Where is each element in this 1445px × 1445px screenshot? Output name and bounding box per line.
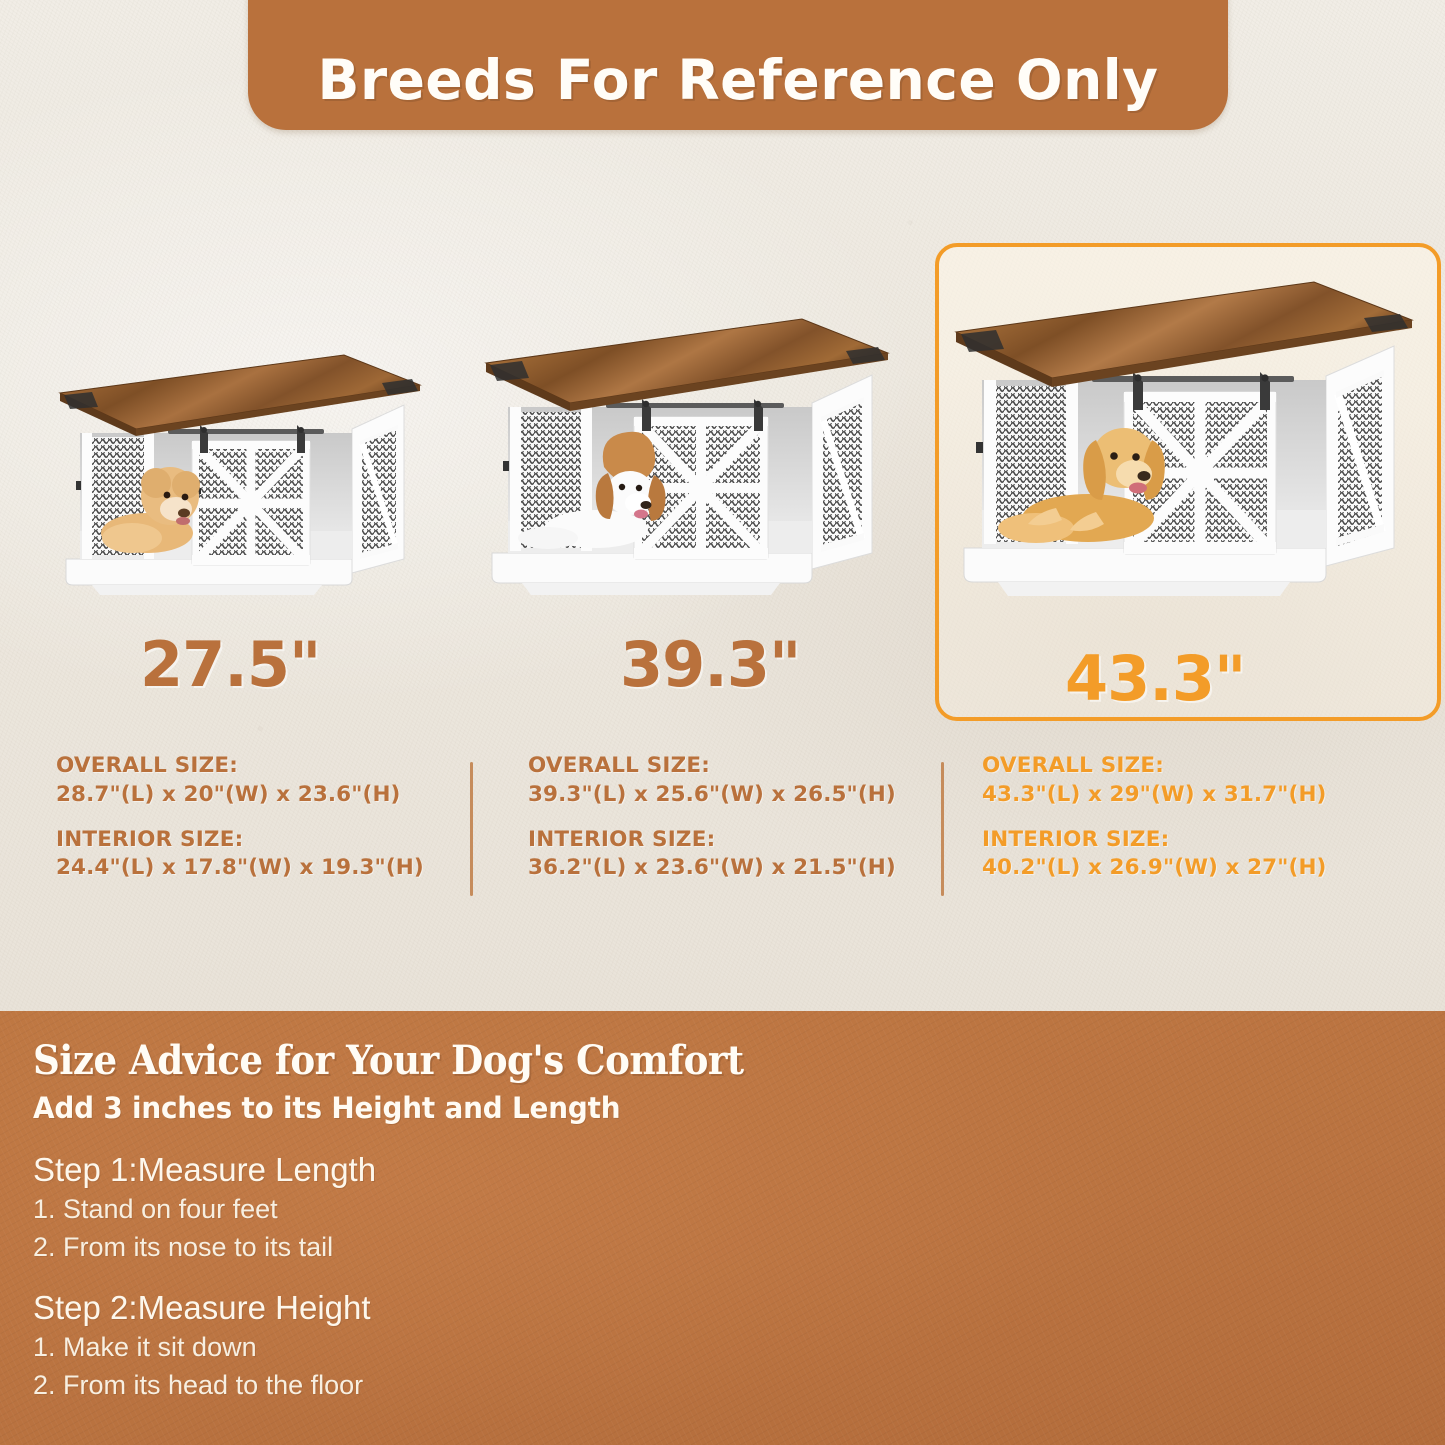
size-label-1: 27.5" <box>140 628 320 701</box>
page-title: Breeds For Reference Only <box>318 48 1159 112</box>
spec-table: OVERALL SIZE: 28.7"(L) x 20"(W) x 23.6"(… <box>0 752 1445 912</box>
spec-interior-2: INTERIOR SIZE: 36.2"(L) x 23.6"(W) x 21.… <box>528 826 968 883</box>
advice-step-2-title: Step 2:Measure Height <box>33 1288 823 1328</box>
spec-divider-2 <box>941 762 944 896</box>
advice-step-2-line-1: 1. Make it sit down <box>33 1328 823 1366</box>
crate-row <box>0 255 1445 655</box>
spec-column-3: OVERALL SIZE: 43.3"(L) x 29"(W) x 31.7"(… <box>982 752 1422 899</box>
spec-column-1: OVERALL SIZE: 28.7"(L) x 20"(W) x 23.6"(… <box>56 752 496 899</box>
size-label-2: 39.3" <box>620 628 800 701</box>
crate-illustration-1 <box>52 333 427 603</box>
advice-title: Size Advice for Your Dog's Comfort <box>33 1040 768 1082</box>
crate-item-1[interactable] <box>52 333 427 603</box>
advice-subtitle: Add 3 inches to its Height and Length <box>33 1089 791 1128</box>
spec-interior-value-3: 40.2"(L) x 26.9"(W) x 27"(H) <box>982 853 1422 882</box>
spec-overall-label-3: OVERALL SIZE: <box>982 752 1422 780</box>
crate-illustration-3 <box>948 260 1420 603</box>
size-label-3: 43.3" <box>1065 642 1245 715</box>
crate-illustration-2 <box>478 297 896 603</box>
spec-interior-label-3: INTERIOR SIZE: <box>982 826 1422 854</box>
infographic-stage: Breeds For Reference Only <box>0 0 1445 1445</box>
spec-interior-1: INTERIOR SIZE: 24.4"(L) x 17.8"(W) x 19.… <box>56 826 496 883</box>
spec-overall-3: OVERALL SIZE: 43.3"(L) x 29"(W) x 31.7"(… <box>982 752 1422 809</box>
crate-item-2[interactable] <box>478 297 896 603</box>
spec-interior-label-1: INTERIOR SIZE: <box>56 826 496 854</box>
advice-text-block: Size Advice for Your Dog's Comfort Add 3… <box>33 1040 823 1405</box>
header-banner: Breeds For Reference Only <box>248 0 1228 130</box>
spec-interior-value-2: 36.2"(L) x 23.6"(W) x 21.5"(H) <box>528 853 968 882</box>
spec-interior-label-2: INTERIOR SIZE: <box>528 826 968 854</box>
spec-overall-label-2: OVERALL SIZE: <box>528 752 968 780</box>
spec-overall-value-2: 39.3"(L) x 25.6"(W) x 26.5"(H) <box>528 780 968 809</box>
advice-step-1: Step 1:Measure Length 1. Stand on four f… <box>33 1150 823 1266</box>
size-advice-panel: Size Advice for Your Dog's Comfort Add 3… <box>0 1011 1445 1445</box>
spec-interior-3: INTERIOR SIZE: 40.2"(L) x 26.9"(W) x 27"… <box>982 826 1422 883</box>
advice-step-1-line-2: 2. From its nose to its tail <box>33 1228 823 1266</box>
advice-step-2: Step 2:Measure Height 1. Make it sit dow… <box>33 1288 823 1404</box>
spec-overall-1: OVERALL SIZE: 28.7"(L) x 20"(W) x 23.6"(… <box>56 752 496 809</box>
advice-step-2-line-2: 2. From its head to the floor <box>33 1366 823 1404</box>
spec-column-2: OVERALL SIZE: 39.3"(L) x 25.6"(W) x 26.5… <box>528 752 968 899</box>
spec-overall-2: OVERALL SIZE: 39.3"(L) x 25.6"(W) x 26.5… <box>528 752 968 809</box>
spec-overall-label-1: OVERALL SIZE: <box>56 752 496 780</box>
spec-overall-value-1: 28.7"(L) x 20"(W) x 23.6"(H) <box>56 780 496 809</box>
advice-step-1-line-1: 1. Stand on four feet <box>33 1190 823 1228</box>
advice-step-1-title: Step 1:Measure Length <box>33 1150 823 1190</box>
spec-divider-1 <box>470 762 473 896</box>
spec-interior-value-1: 24.4"(L) x 17.8"(W) x 19.3"(H) <box>56 853 496 882</box>
spec-overall-value-3: 43.3"(L) x 29"(W) x 31.7"(H) <box>982 780 1422 809</box>
crate-item-3[interactable] <box>948 260 1420 603</box>
